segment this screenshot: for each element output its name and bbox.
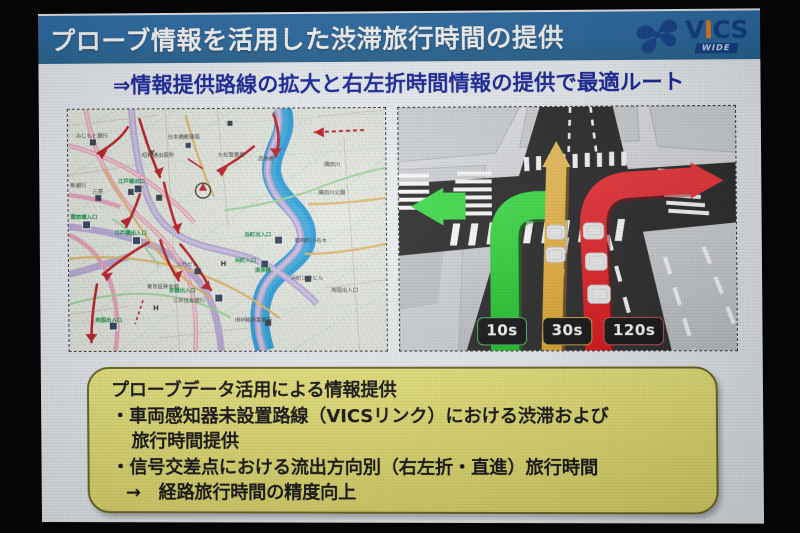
note-line-2: 旅行時間提供 xyxy=(111,429,702,455)
note-line-1: ・車両感知器未設置路線（VICSリンク）における渋滞および xyxy=(111,404,702,430)
vics-letters: VICS xyxy=(685,17,748,42)
vics-wide-badge: WIDE xyxy=(695,42,739,52)
page-title: プローブ情報を活用した渋滞旅行時間の提供 xyxy=(50,18,564,58)
vics-letter-i: I xyxy=(704,15,713,43)
travel-time-right-turn: 120s xyxy=(603,317,664,345)
note-heading: プローブデータ活用による情報提供 xyxy=(111,378,702,404)
map-canvas: みじもと銀行 日本橋郵便局 昭和通出張所 久松警察署 新銀行 三菱 山乃ビル 東… xyxy=(68,108,387,351)
vics-wordmark: VICS WIDE xyxy=(685,17,748,53)
slide-title-bar: プローブ情報を活用した渋滞旅行時間の提供 VICS WIDE xyxy=(38,10,760,64)
note-line-3: ・信号交差点における流出方向別（右左折・直進）旅行時間 xyxy=(112,455,703,481)
vics-wide-logo: VICS WIDE xyxy=(635,15,752,54)
intersection-canvas: 10s 30s 120s xyxy=(398,106,737,351)
intersection-graphic xyxy=(398,106,737,351)
vics-letter-cs: CS xyxy=(712,15,748,44)
vics-butterfly-icon xyxy=(635,16,680,55)
slide-subtitle: ⇒情報提供路線の拡大と右左折時間情報の提供で最適ルート xyxy=(38,63,760,102)
map-figure: みじもと銀行 日本橋郵便局 昭和通出張所 久松警察署 新銀行 三菱 山乃ビル 東… xyxy=(67,107,388,352)
projected-slide-photo: プローブ情報を活用した渋滞旅行時間の提供 VICS WIDE xyxy=(0,0,800,533)
vics-letter-v: V xyxy=(685,15,704,44)
map-texture-overlay xyxy=(68,108,387,351)
note-line-4: → 経路旅行時間の精度向上 xyxy=(112,480,703,507)
travel-time-through: 30s xyxy=(542,317,592,345)
intersection-figure: 10s 30s 120s xyxy=(397,105,738,352)
presentation-slide: プローブ情報を活用した渋滞旅行時間の提供 VICS WIDE xyxy=(38,8,764,523)
summary-note-box: プローブデータ活用による情報提供 ・車両感知器未設置路線（VICSリンク）におけ… xyxy=(87,366,719,514)
figure-row: みじもと銀行 日本橋郵便局 昭和通出張所 久松警察署 新銀行 三菱 山乃ビル 東… xyxy=(67,105,738,352)
travel-time-left-turn: 10s xyxy=(477,317,527,345)
